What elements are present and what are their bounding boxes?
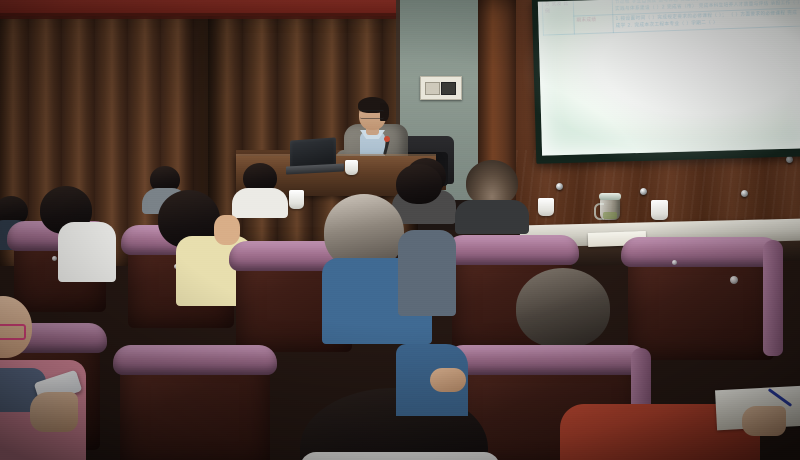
tea-leaves	[603, 212, 617, 219]
seat-side-panel	[763, 240, 783, 356]
seat-stud-icon	[730, 276, 738, 284]
slide-table: 考核 评价方 式及 比例 平时成绩 2. 完成规定教材（ ） 阅读任务； 检查度…	[541, 0, 800, 35]
valance-shadow	[0, 13, 420, 19]
paper-cup	[538, 198, 554, 216]
slide-row-label: 考核 评价方 式及 比例	[542, 0, 574, 35]
seat-padded-trim	[621, 237, 781, 267]
seat-padded-trim	[445, 235, 579, 265]
attendee-arm	[430, 368, 466, 392]
attendee-hands	[30, 392, 78, 432]
seat[interactable]	[628, 244, 774, 360]
seat[interactable]	[120, 352, 270, 460]
eyeglasses-icon	[360, 110, 384, 119]
slide-cell-header: 平时成绩	[573, 0, 613, 16]
paper-cup	[345, 160, 358, 175]
teapot-lid	[599, 193, 621, 200]
wall-stud-icon	[556, 183, 563, 190]
wall-stud-icon	[741, 190, 748, 197]
slide-cell-header: 期末成绩	[574, 15, 614, 34]
paper-cup	[651, 200, 668, 220]
attendee-collar	[300, 452, 500, 460]
wall-stud-icon	[640, 188, 647, 195]
outlet-socket-icon	[425, 82, 440, 95]
attendee-torso	[398, 230, 456, 316]
wall-stud-icon	[786, 156, 793, 163]
attendee-head	[516, 268, 610, 348]
seat-stud-icon	[672, 260, 677, 265]
photo-scene: 考核 评价方 式及 比例 平时成绩 2. 完成规定教材（ ） 阅读任务； 检查度…	[0, 0, 800, 460]
microphone-icon	[384, 136, 390, 142]
seat-stud-icon	[52, 256, 57, 261]
paper-cup	[289, 190, 304, 209]
attendee-torso	[232, 188, 288, 218]
pink-eyeglasses-icon	[0, 324, 26, 340]
attendee-hand	[214, 215, 240, 245]
projection-screen: 考核 评价方 式及 比例 平时成绩 2. 完成规定教材（ ） 阅读任务； 检查度…	[538, 0, 800, 156]
attendee-torso	[58, 222, 116, 282]
attendee-head	[396, 164, 442, 204]
attendee-torso	[455, 200, 529, 234]
seat-padded-trim	[113, 345, 277, 375]
wall-outlet-plate	[420, 76, 462, 100]
seat-padded-trim	[445, 345, 649, 375]
outlet-switch-icon	[441, 82, 456, 95]
attendee-writing-hand	[742, 406, 786, 436]
projection-screen-frame: 考核 评价方 式及 比例 平时成绩 2. 完成规定教材（ ） 阅读任务； 检查度…	[532, 0, 800, 164]
